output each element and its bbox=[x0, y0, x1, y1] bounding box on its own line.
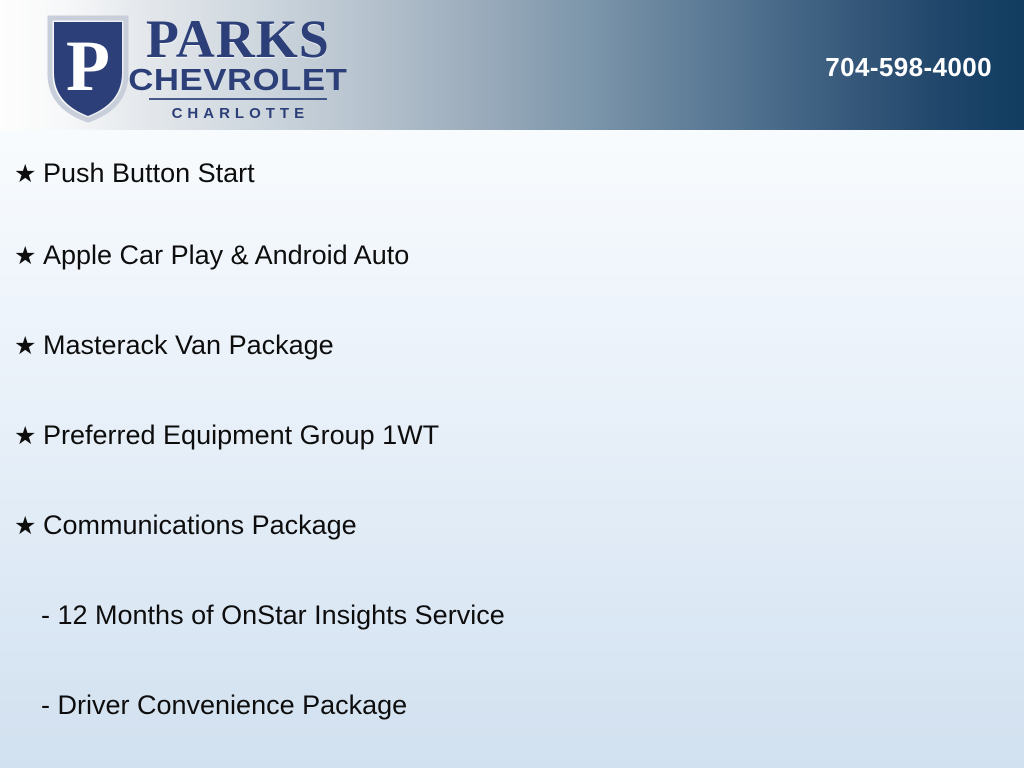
brand-location-charlotte: CHARLOTTE bbox=[167, 105, 310, 122]
dealer-header-banner: P PARKS CHEVROLET CHARLOTTE 704-598-4000 bbox=[0, 0, 1024, 130]
svg-text:P: P bbox=[66, 26, 110, 106]
feature-label: Preferred Equipment Group 1WT bbox=[43, 422, 439, 449]
feature-label: Masterack Van Package bbox=[43, 332, 334, 359]
feature-list: ★ Push Button Start ★ Apple Car Play & A… bbox=[0, 130, 1024, 782]
star-icon: ★ bbox=[14, 514, 43, 539]
dealer-phone-number[interactable]: 704-598-4000 bbox=[825, 52, 992, 83]
star-icon: ★ bbox=[14, 162, 43, 187]
star-icon: ★ bbox=[14, 334, 43, 359]
star-icon: ★ bbox=[14, 424, 43, 449]
list-item: ★ Preferred Equipment Group 1WT bbox=[0, 422, 1024, 512]
list-item: ★ Masterack Van Package bbox=[0, 332, 1024, 422]
sub-list-item: - Driver Convenience Package bbox=[0, 692, 1024, 782]
feature-label: Apple Car Play & Android Auto bbox=[43, 242, 409, 269]
list-item: ★ Communications Package bbox=[0, 512, 1024, 602]
brand-name-chevrolet: CHEVROLET bbox=[128, 65, 347, 95]
subfeature-label: - Driver Convenience Package bbox=[41, 692, 407, 719]
feature-label: Communications Package bbox=[43, 512, 357, 539]
feature-label: Push Button Start bbox=[43, 160, 255, 187]
brand-divider-rule bbox=[149, 98, 327, 100]
star-icon: ★ bbox=[14, 244, 43, 269]
brand-name-parks: PARKS bbox=[146, 14, 330, 64]
list-item: ★ Push Button Start bbox=[0, 130, 1024, 242]
sub-list-item: - 12 Months of OnStar Insights Service bbox=[0, 602, 1024, 692]
shield-icon: P bbox=[46, 12, 130, 124]
subfeature-label: - 12 Months of OnStar Insights Service bbox=[41, 602, 505, 629]
dealer-wordmark: PARKS CHEVROLET CHARLOTTE bbox=[140, 12, 336, 122]
dealer-logo[interactable]: P PARKS CHEVROLET CHARLOTTE bbox=[46, 12, 336, 124]
list-item: ★ Apple Car Play & Android Auto bbox=[0, 242, 1024, 332]
